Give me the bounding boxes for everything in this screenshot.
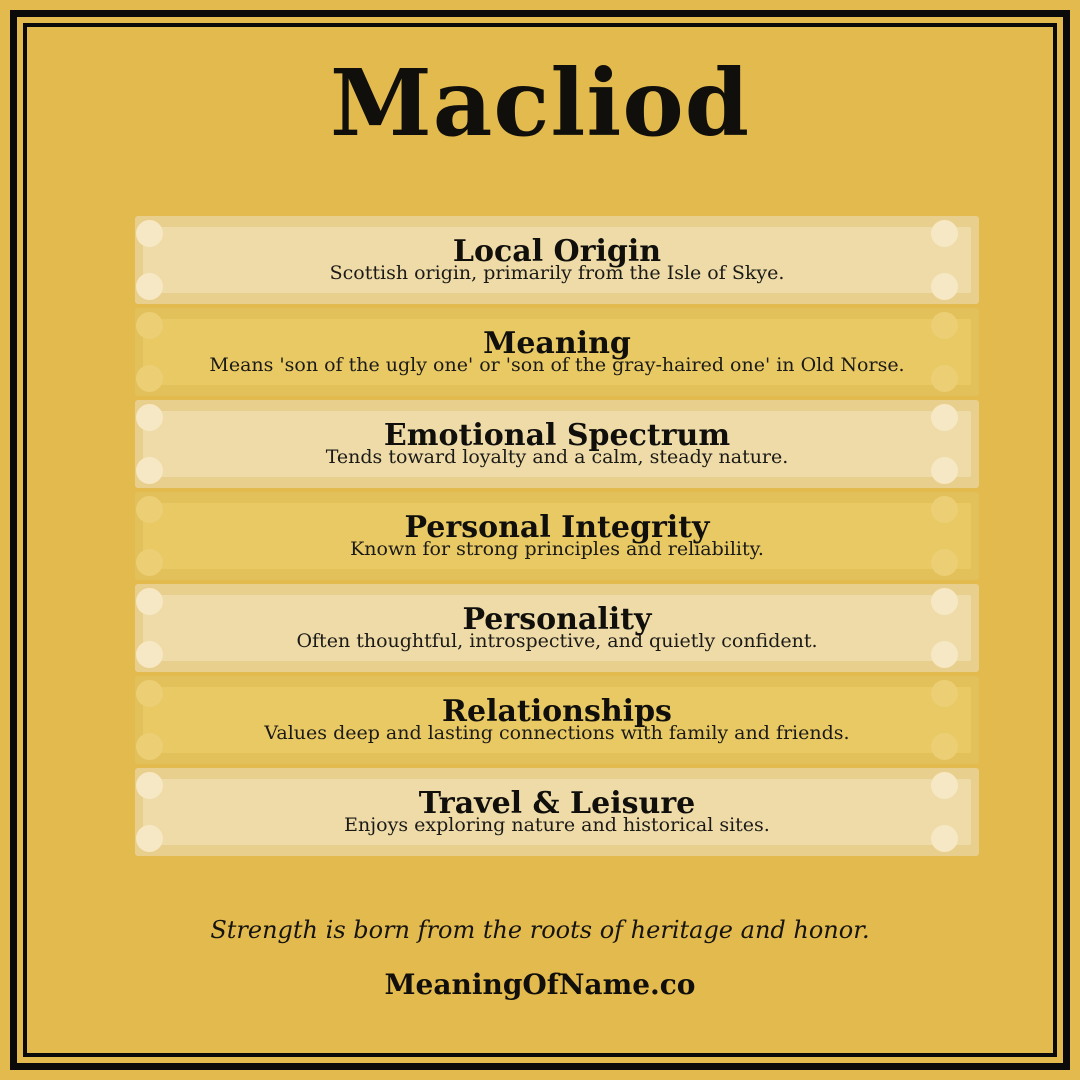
card-text: Emotional Spectrum Tends toward loyalty … — [153, 400, 961, 488]
info-card: Relationships Values deep and lasting co… — [125, 676, 989, 768]
card-description: Often thoughtful, introspective, and qui… — [296, 632, 817, 652]
card-text: Relationships Values deep and lasting co… — [153, 676, 961, 764]
footer: Strength is born from the roots of herit… — [27, 916, 1053, 1001]
card-description: Tends toward loyalty and a calm, steady … — [326, 448, 789, 468]
info-card: Local Origin Scottish origin, primarily … — [125, 216, 989, 308]
card-text: Meaning Means 'son of the ugly one' or '… — [153, 308, 961, 396]
card-text: Personal Integrity Known for strong prin… — [153, 492, 961, 580]
card-description: Scottish origin, primarily from the Isle… — [330, 264, 785, 284]
info-card-list: Local Origin Scottish origin, primarily … — [125, 216, 989, 860]
info-card: Travel & Leisure Enjoys exploring nature… — [125, 768, 989, 860]
card-description: Enjoys exploring nature and historical s… — [344, 816, 770, 836]
card-text: Personality Often thoughtful, introspect… — [153, 584, 961, 672]
info-card: Emotional Spectrum Tends toward loyalty … — [125, 400, 989, 492]
info-card: Personality Often thoughtful, introspect… — [125, 584, 989, 676]
card-description: Means 'son of the ugly one' or 'son of t… — [209, 356, 904, 376]
card-description: Known for strong principles and reliabil… — [350, 540, 764, 560]
card-text: Travel & Leisure Enjoys exploring nature… — [153, 768, 961, 856]
poster-content: Macliod Local Origin Scottish origin, pr… — [27, 27, 1053, 1053]
page-title: Macliod — [27, 55, 1053, 152]
card-description: Values deep and lasting connections with… — [264, 724, 849, 744]
info-card: Meaning Means 'son of the ugly one' or '… — [125, 308, 989, 400]
poster-frame-inner: Macliod Local Origin Scottish origin, pr… — [23, 23, 1057, 1057]
footer-tagline: Strength is born from the roots of herit… — [27, 916, 1053, 944]
card-text: Local Origin Scottish origin, primarily … — [153, 216, 961, 304]
poster-frame-outer: Macliod Local Origin Scottish origin, pr… — [10, 10, 1070, 1070]
footer-brand: MeaningOfName.co — [27, 968, 1053, 1001]
info-card: Personal Integrity Known for strong prin… — [125, 492, 989, 584]
